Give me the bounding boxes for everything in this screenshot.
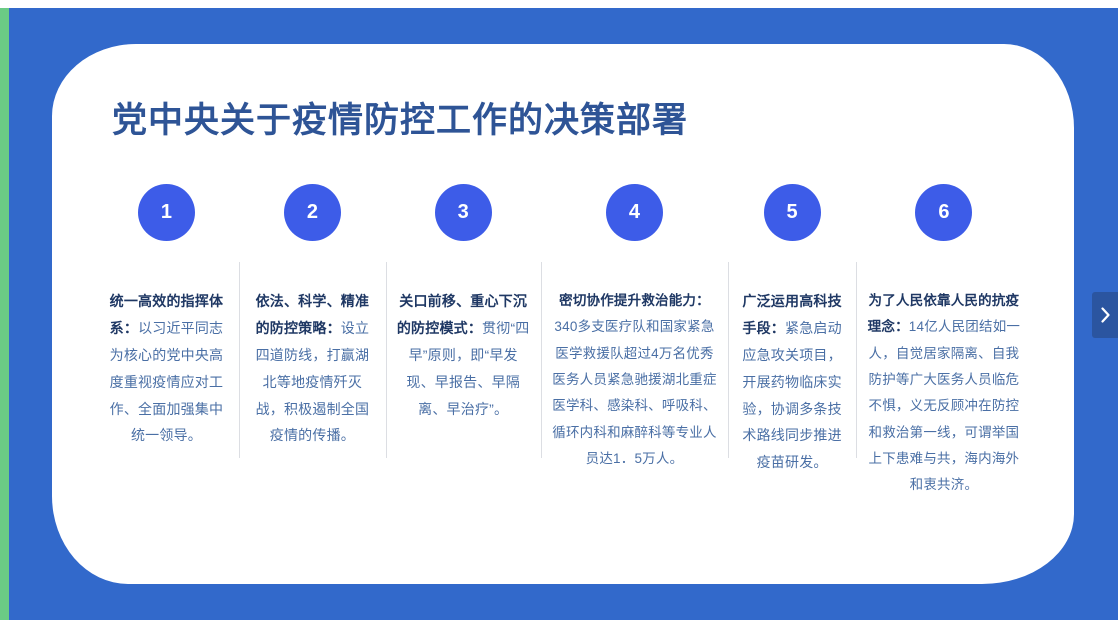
content-card: 党中央关于疫情防控工作的决策部署 1 统一高效的指挥体系：以习近平同志为核心的党… xyxy=(52,44,1074,584)
step-body-2: 依法、科学、精准的防控策略：设立四道防线，打赢湖北等地疫情歼灭战，积极遏制全国疫… xyxy=(249,288,376,449)
step-number-badge-3: 3 xyxy=(435,184,492,241)
step-body-3: 关口前移、重心下沉的防控模式：贯彻“四早”原则，即“早发现、早报告、早隔离、早治… xyxy=(396,288,531,422)
step-text-1: 以习近平同志为核心的党中央高度重视疫情应对工作、全面加强集中统一领导。 xyxy=(110,320,224,444)
step-item-2: 2 依法、科学、精准的防控策略：设立四道防线，打赢湖北等地疫情歼灭战，积极遏制全… xyxy=(239,184,386,449)
step-item-4: 4 密切协作提升救治能力：340多支医疗队和国家紧急医学救援队超过4万名优秀医务… xyxy=(541,184,729,472)
step-text-6: 14亿人民团结如一人，自觉居家隔离、自我防护等广大医务人员临危不惧，义无反顾冲在… xyxy=(869,319,1021,492)
step-number-badge-4: 4 xyxy=(606,184,663,241)
step-number-badge-5: 5 xyxy=(764,184,821,241)
step-item-6: 6 为了人民依靠人民的抗疫理念：14亿人民团结如一人，自觉居家隔离、自我防护等广… xyxy=(856,184,1032,499)
step-body-6: 为了人民依靠人民的抗疫理念：14亿人民团结如一人，自觉居家隔离、自我防护等广大医… xyxy=(866,288,1022,499)
step-body-4: 密切协作提升救治能力：340多支医疗队和国家紧急医学救援队超过4万名优秀医务人员… xyxy=(551,288,719,472)
step-lead-4: 密切协作提升救治能力： xyxy=(559,293,710,308)
step-text-2: 设立四道防线，打赢湖北等地疫情歼灭战，积极遏制全国疫情的传播。 xyxy=(256,320,370,444)
next-slide-button[interactable] xyxy=(1092,292,1118,338)
presentation-slide: 党中央关于疫情防控工作的决策部署 1 统一高效的指挥体系：以习近平同志为核心的党… xyxy=(0,0,1118,634)
step-number-badge-1: 1 xyxy=(138,184,195,241)
accent-bar-left xyxy=(0,8,9,620)
step-body-5: 广泛运用高科技手段：紧急启动应急攻关项目，开展药物临床实验，协调多条技术路线同步… xyxy=(738,288,845,476)
step-number-badge-2: 2 xyxy=(284,184,341,241)
step-item-3: 3 关口前移、重心下沉的防控模式：贯彻“四早”原则，即“早发现、早报告、早隔离、… xyxy=(386,184,541,422)
step-number-badge-6: 6 xyxy=(915,184,972,241)
steps-list: 1 统一高效的指挥体系：以习近平同志为核心的党中央高度重视疫情应对工作、全面加强… xyxy=(94,184,1032,499)
step-text-4: 340多支医疗队和国家紧急医学救援队超过4万名优秀医务人员紧急驰援湖北重症医学科… xyxy=(552,319,716,466)
step-text-5: 紧急启动应急攻关项目，开展药物临床实验，协调多条技术路线同步推进疫苗研发。 xyxy=(742,320,841,470)
step-body-1: 统一高效的指挥体系：以习近平同志为核心的党中央高度重视疫情应对工作、全面加强集中… xyxy=(104,288,229,449)
page-title: 党中央关于疫情防控工作的决策部署 xyxy=(112,92,688,143)
chevron-right-icon xyxy=(1100,307,1111,323)
step-item-5: 5 广泛运用高科技手段：紧急启动应急攻关项目，开展药物临床实验，协调多条技术路线… xyxy=(728,184,855,476)
step-item-1: 1 统一高效的指挥体系：以习近平同志为核心的党中央高度重视疫情应对工作、全面加强… xyxy=(94,184,239,449)
